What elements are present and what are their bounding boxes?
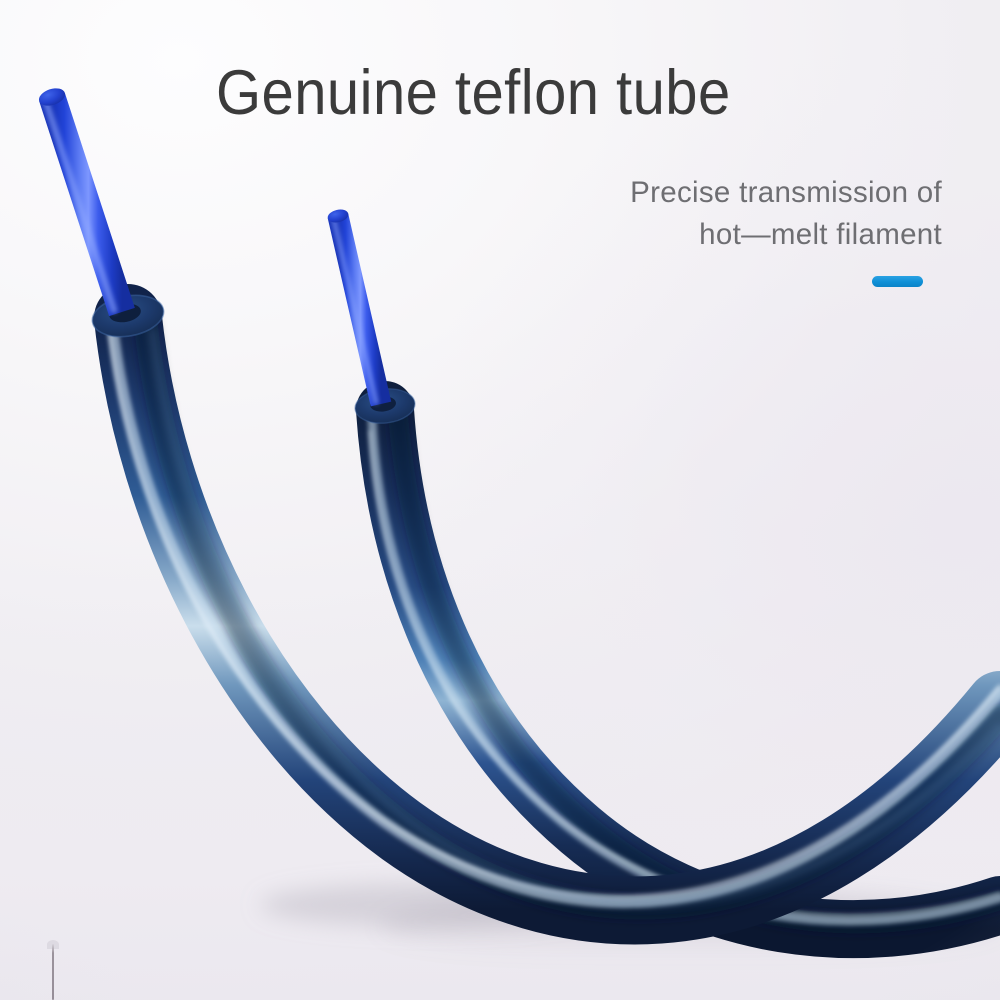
subtitle-line-1: Precise transmission of (462, 172, 942, 214)
watermark-line (52, 944, 54, 1000)
page-title: Genuine teflon tube (216, 62, 897, 125)
subtitle-line-2: hot—melt filament (462, 214, 942, 256)
product-banner: Genuine teflon tube Precise transmission… (0, 0, 1000, 1000)
accent-bar (872, 276, 923, 287)
background-vignette (0, 0, 1000, 1000)
subtitle-block: Precise transmission of hot—melt filamen… (462, 172, 942, 256)
